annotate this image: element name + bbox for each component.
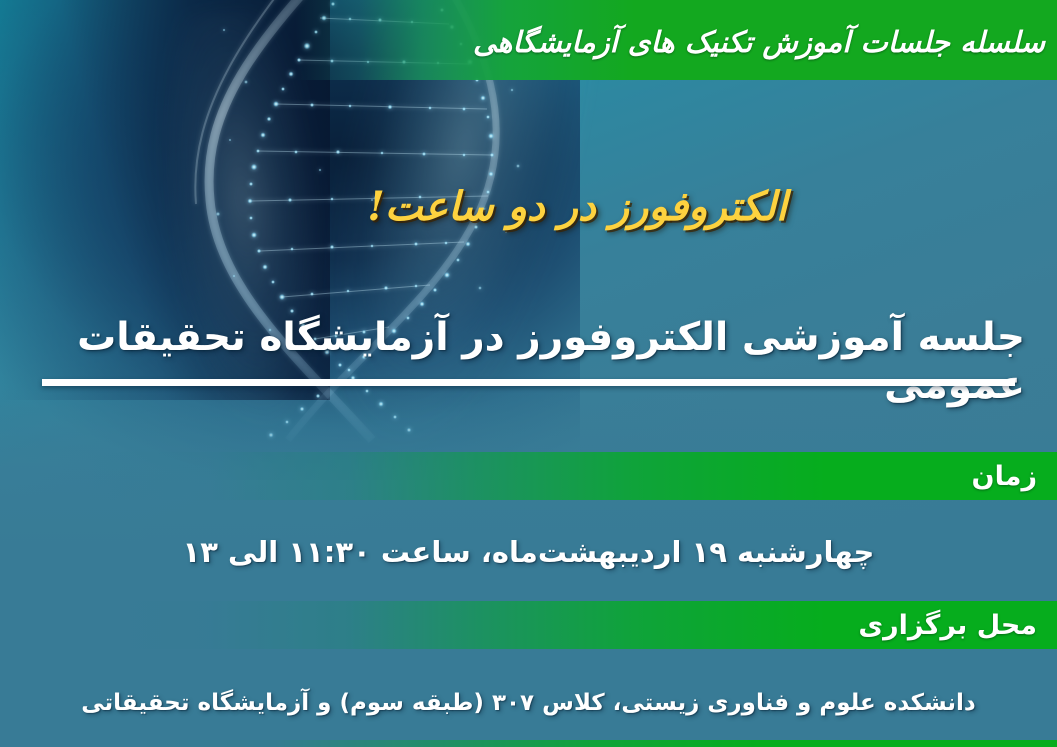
venue-label: محل برگزاری [858,610,1037,641]
header-banner: سلسله جلسات آموزش تکنیک های آزمایشگاهی [0,0,1057,80]
header-banner-text: سلسله جلسات آموزش تکنیک های آزمایشگاهی [473,25,1045,59]
venue-value: دانشکده علوم و فناوری زیستی، کلاس ۳۰۷ (ط… [0,690,1057,716]
divider [42,379,1015,386]
footer-band [0,740,1057,747]
tagline-text: الکتروفورز در دو ساعت! [367,183,787,230]
page-title: جلسه آموزشی الکتروفورز در آزمایشگاه تحقی… [32,314,1025,409]
time-label-band: زمان [0,452,1057,500]
time-value: چهارشنبه ۱۹ اردیبهشت‌ماه، ساعت ۱۱:۳۰ الی… [0,535,1057,569]
time-label: زمان [972,461,1037,492]
event-poster: سلسله جلسات آموزش تکنیک های آزمایشگاهی ا… [0,0,1057,747]
venue-label-band: محل برگزاری [0,601,1057,649]
